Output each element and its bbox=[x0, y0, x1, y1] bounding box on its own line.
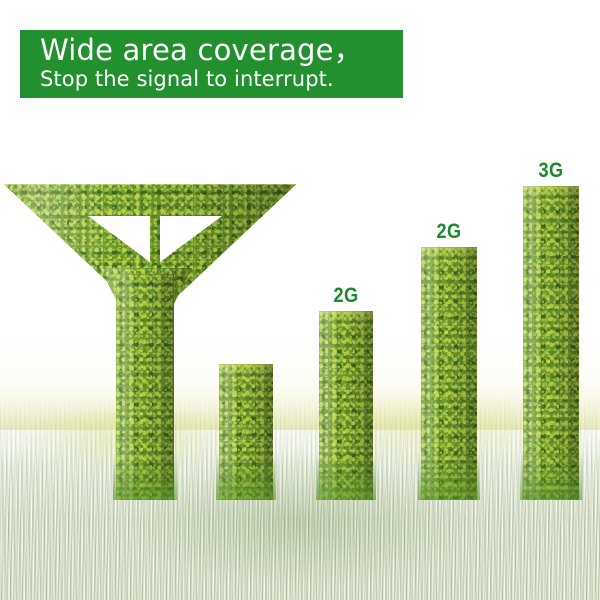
tower-trunk bbox=[116, 274, 174, 500]
signal-bar-4-label: 3G bbox=[527, 160, 575, 181]
headline-banner: Wide area coverage， Stop the signal to i… bbox=[20, 30, 403, 98]
hedge-shading bbox=[523, 186, 579, 500]
signal-bar-2-label: 2G bbox=[323, 285, 369, 306]
signal-bar-2 bbox=[319, 311, 373, 500]
poster-canvas: 2G 2G 3G Wide area coverage， Stop the si… bbox=[0, 0, 600, 600]
signal-bar-4 bbox=[523, 186, 579, 500]
bar-base-fade bbox=[316, 454, 376, 500]
signal-bar-1 bbox=[219, 364, 273, 500]
bar-base-fade bbox=[520, 454, 582, 500]
subheadline-text: Stop the signal to interrupt. bbox=[40, 64, 334, 94]
signal-bar-3 bbox=[421, 247, 477, 500]
signal-bar-3-label: 2G bbox=[425, 221, 473, 242]
tower-base-fade bbox=[113, 454, 177, 500]
bar-base-fade bbox=[216, 454, 276, 500]
bar-base-fade bbox=[418, 454, 480, 500]
